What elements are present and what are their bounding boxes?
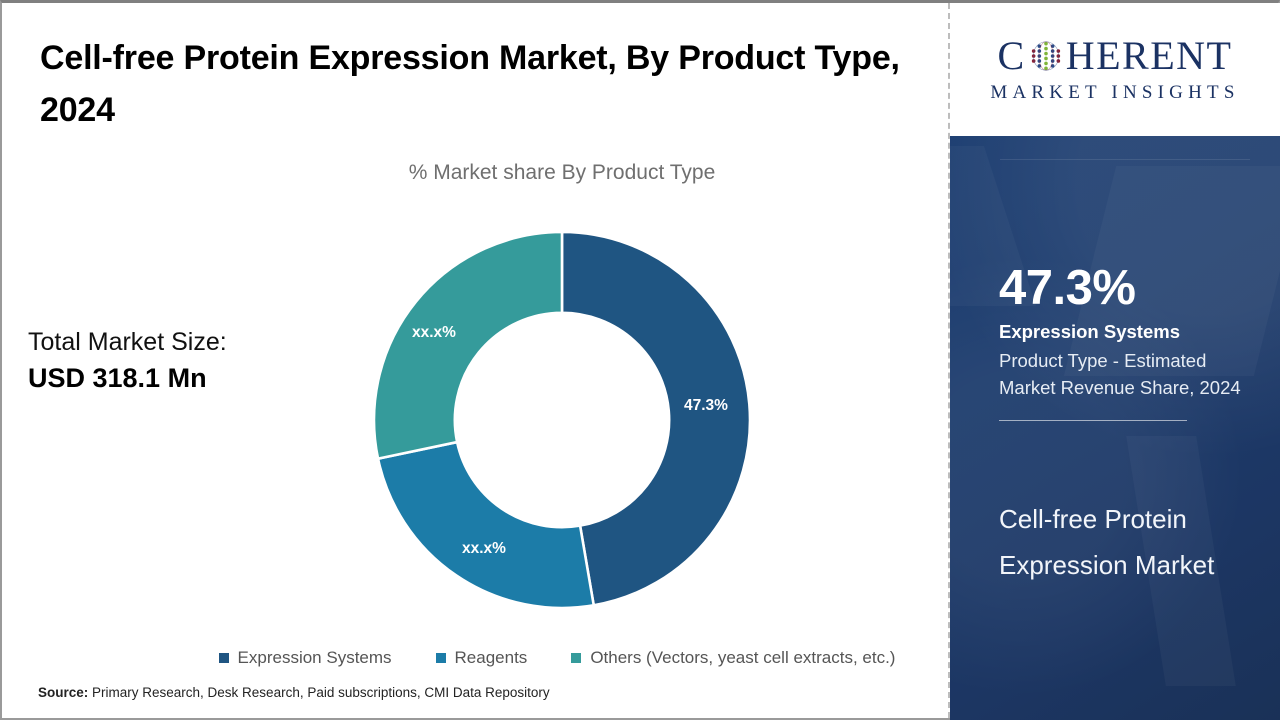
donut-slice[interactable] bbox=[378, 442, 594, 608]
total-market-size-block: Total Market Size: USD 318.1 Mn bbox=[28, 325, 328, 397]
logo-letter-c: C bbox=[998, 36, 1026, 76]
logo-wordmark-rest: HERENT bbox=[1066, 36, 1233, 76]
highlight-card: 47.3% Expression Systems Product Type - … bbox=[950, 136, 1280, 720]
legend-label: Expression Systems bbox=[238, 648, 392, 668]
donut-slices bbox=[374, 232, 750, 608]
highlight-divider bbox=[999, 420, 1187, 421]
legend-swatch-icon bbox=[219, 653, 229, 663]
branding-panel: C HERENT MARKET INSIGHTS 47.3% Expressio… bbox=[950, 3, 1280, 718]
highlight-description: Product Type - Estimated Market Revenue … bbox=[999, 347, 1251, 401]
highlight-percent: 47.3% bbox=[999, 261, 1251, 316]
source-text: Primary Research, Desk Research, Paid su… bbox=[88, 685, 549, 700]
highlight-stat-block: 47.3% Expression Systems Product Type - … bbox=[999, 261, 1251, 421]
logo-wordmark: C HERENT bbox=[998, 36, 1233, 76]
donut-slice[interactable] bbox=[374, 232, 562, 459]
report-name: Cell-free Protein Expression Market bbox=[999, 497, 1219, 588]
source-label: Source: bbox=[38, 685, 88, 700]
source-note: Source: Primary Research, Desk Research,… bbox=[38, 685, 550, 700]
logo-tagline: MARKET INSIGHTS bbox=[990, 82, 1239, 104]
donut-chart: 47.3% xx.x% xx.x% bbox=[374, 232, 750, 608]
legend-item-expression-systems[interactable]: Expression Systems bbox=[219, 648, 392, 668]
highlight-segment-name: Expression Systems bbox=[999, 318, 1251, 346]
legend-label: Reagents bbox=[455, 648, 528, 668]
total-market-size-label: Total Market Size: bbox=[28, 325, 328, 360]
chart-legend: Expression Systems Reagents Others (Vect… bbox=[2, 648, 1112, 668]
decorative-line bbox=[1000, 159, 1250, 160]
donut-slice[interactable] bbox=[562, 232, 750, 605]
infographic-slide: Cell-free Protein Expression Market, By … bbox=[0, 0, 1280, 720]
globe-dots-icon bbox=[1027, 37, 1065, 75]
legend-swatch-icon bbox=[436, 653, 446, 663]
slice-label-reagents: xx.x% bbox=[462, 540, 506, 558]
page-title: Cell-free Protein Expression Market, By … bbox=[40, 33, 910, 136]
slice-label-others: xx.x% bbox=[412, 324, 456, 342]
donut-chart-svg bbox=[374, 232, 750, 608]
chart-panel: Cell-free Protein Expression Market, By … bbox=[2, 3, 947, 718]
company-logo: C HERENT MARKET INSIGHTS bbox=[950, 3, 1280, 136]
slice-label-expression-systems: 47.3% bbox=[684, 397, 728, 415]
legend-label: Others (Vectors, yeast cell extracts, et… bbox=[590, 648, 895, 668]
legend-swatch-icon bbox=[571, 653, 581, 663]
total-market-size-value: USD 318.1 Mn bbox=[28, 360, 328, 397]
legend-item-others[interactable]: Others (Vectors, yeast cell extracts, et… bbox=[571, 648, 895, 668]
legend-item-reagents[interactable]: Reagents bbox=[436, 648, 528, 668]
